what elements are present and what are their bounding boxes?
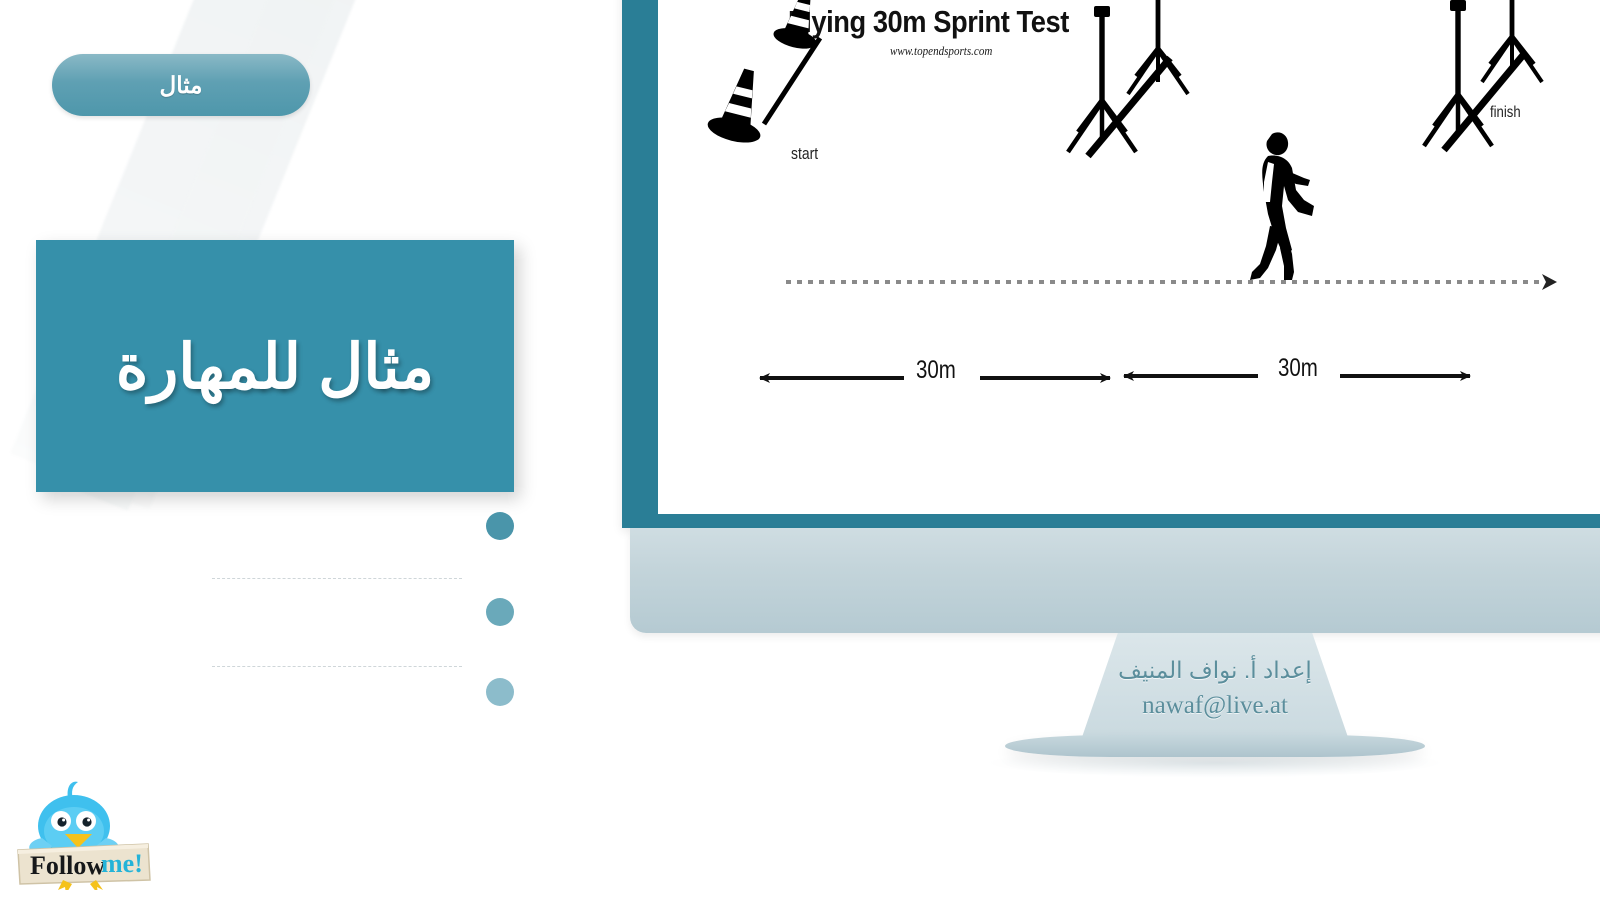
bullet-dot-1	[486, 512, 514, 540]
monitor-base	[1005, 735, 1425, 757]
monitor-bezel: Flying 30m Sprint Test www.topendsports.…	[622, 0, 1600, 528]
section-tag-pill[interactable]: مثال	[52, 54, 310, 116]
twitter-follow-badge[interactable]: Follow me!	[8, 768, 158, 890]
slide-canvas: مثال مثال للمهارة Flying 30m Sprint Test…	[0, 0, 1600, 900]
runner-silhouette-icon	[1250, 132, 1314, 280]
monitor-stand: إعداد أ. نواف المنيف nawaf@live.at	[1080, 633, 1350, 743]
timing-gate-icon	[1068, 6, 1136, 152]
slide-title-card: مثال للمهارة	[36, 240, 514, 492]
traffic-cone-icon	[705, 63, 775, 147]
sprint-test-diagram: Flying 30m Sprint Test www.topendsports.…	[658, 0, 1600, 514]
bullet-dot-3	[486, 678, 514, 706]
section-tag-label: مثال	[160, 72, 203, 99]
monitor-mockup: Flying 30m Sprint Test www.topendsports.…	[622, 0, 1600, 633]
follow-badge-text-me: me!	[101, 849, 143, 878]
monitor-screen: Flying 30m Sprint Test www.topendsports.…	[658, 0, 1600, 514]
author-credit-arabic: إعداد أ. نواف المنيف	[1118, 657, 1312, 684]
follow-badge-text-follow: Follow	[30, 851, 105, 880]
bullet-divider-1	[212, 578, 462, 579]
diagram-graphics	[658, 0, 1600, 514]
monitor-chin	[630, 528, 1600, 633]
bullet-dot-2	[486, 598, 514, 626]
timing-gate-icon	[1424, 0, 1492, 146]
dotted-track-line-icon	[786, 274, 1557, 290]
slide-title-text: مثال للمهارة	[116, 330, 434, 403]
traffic-cone-icon	[771, 0, 828, 52]
author-email: nawaf@live.at	[1142, 692, 1288, 720]
timing-gate-icon	[1128, 0, 1188, 94]
twitter-bird-icon: Follow me!	[8, 768, 158, 890]
bullet-divider-2	[212, 666, 462, 667]
